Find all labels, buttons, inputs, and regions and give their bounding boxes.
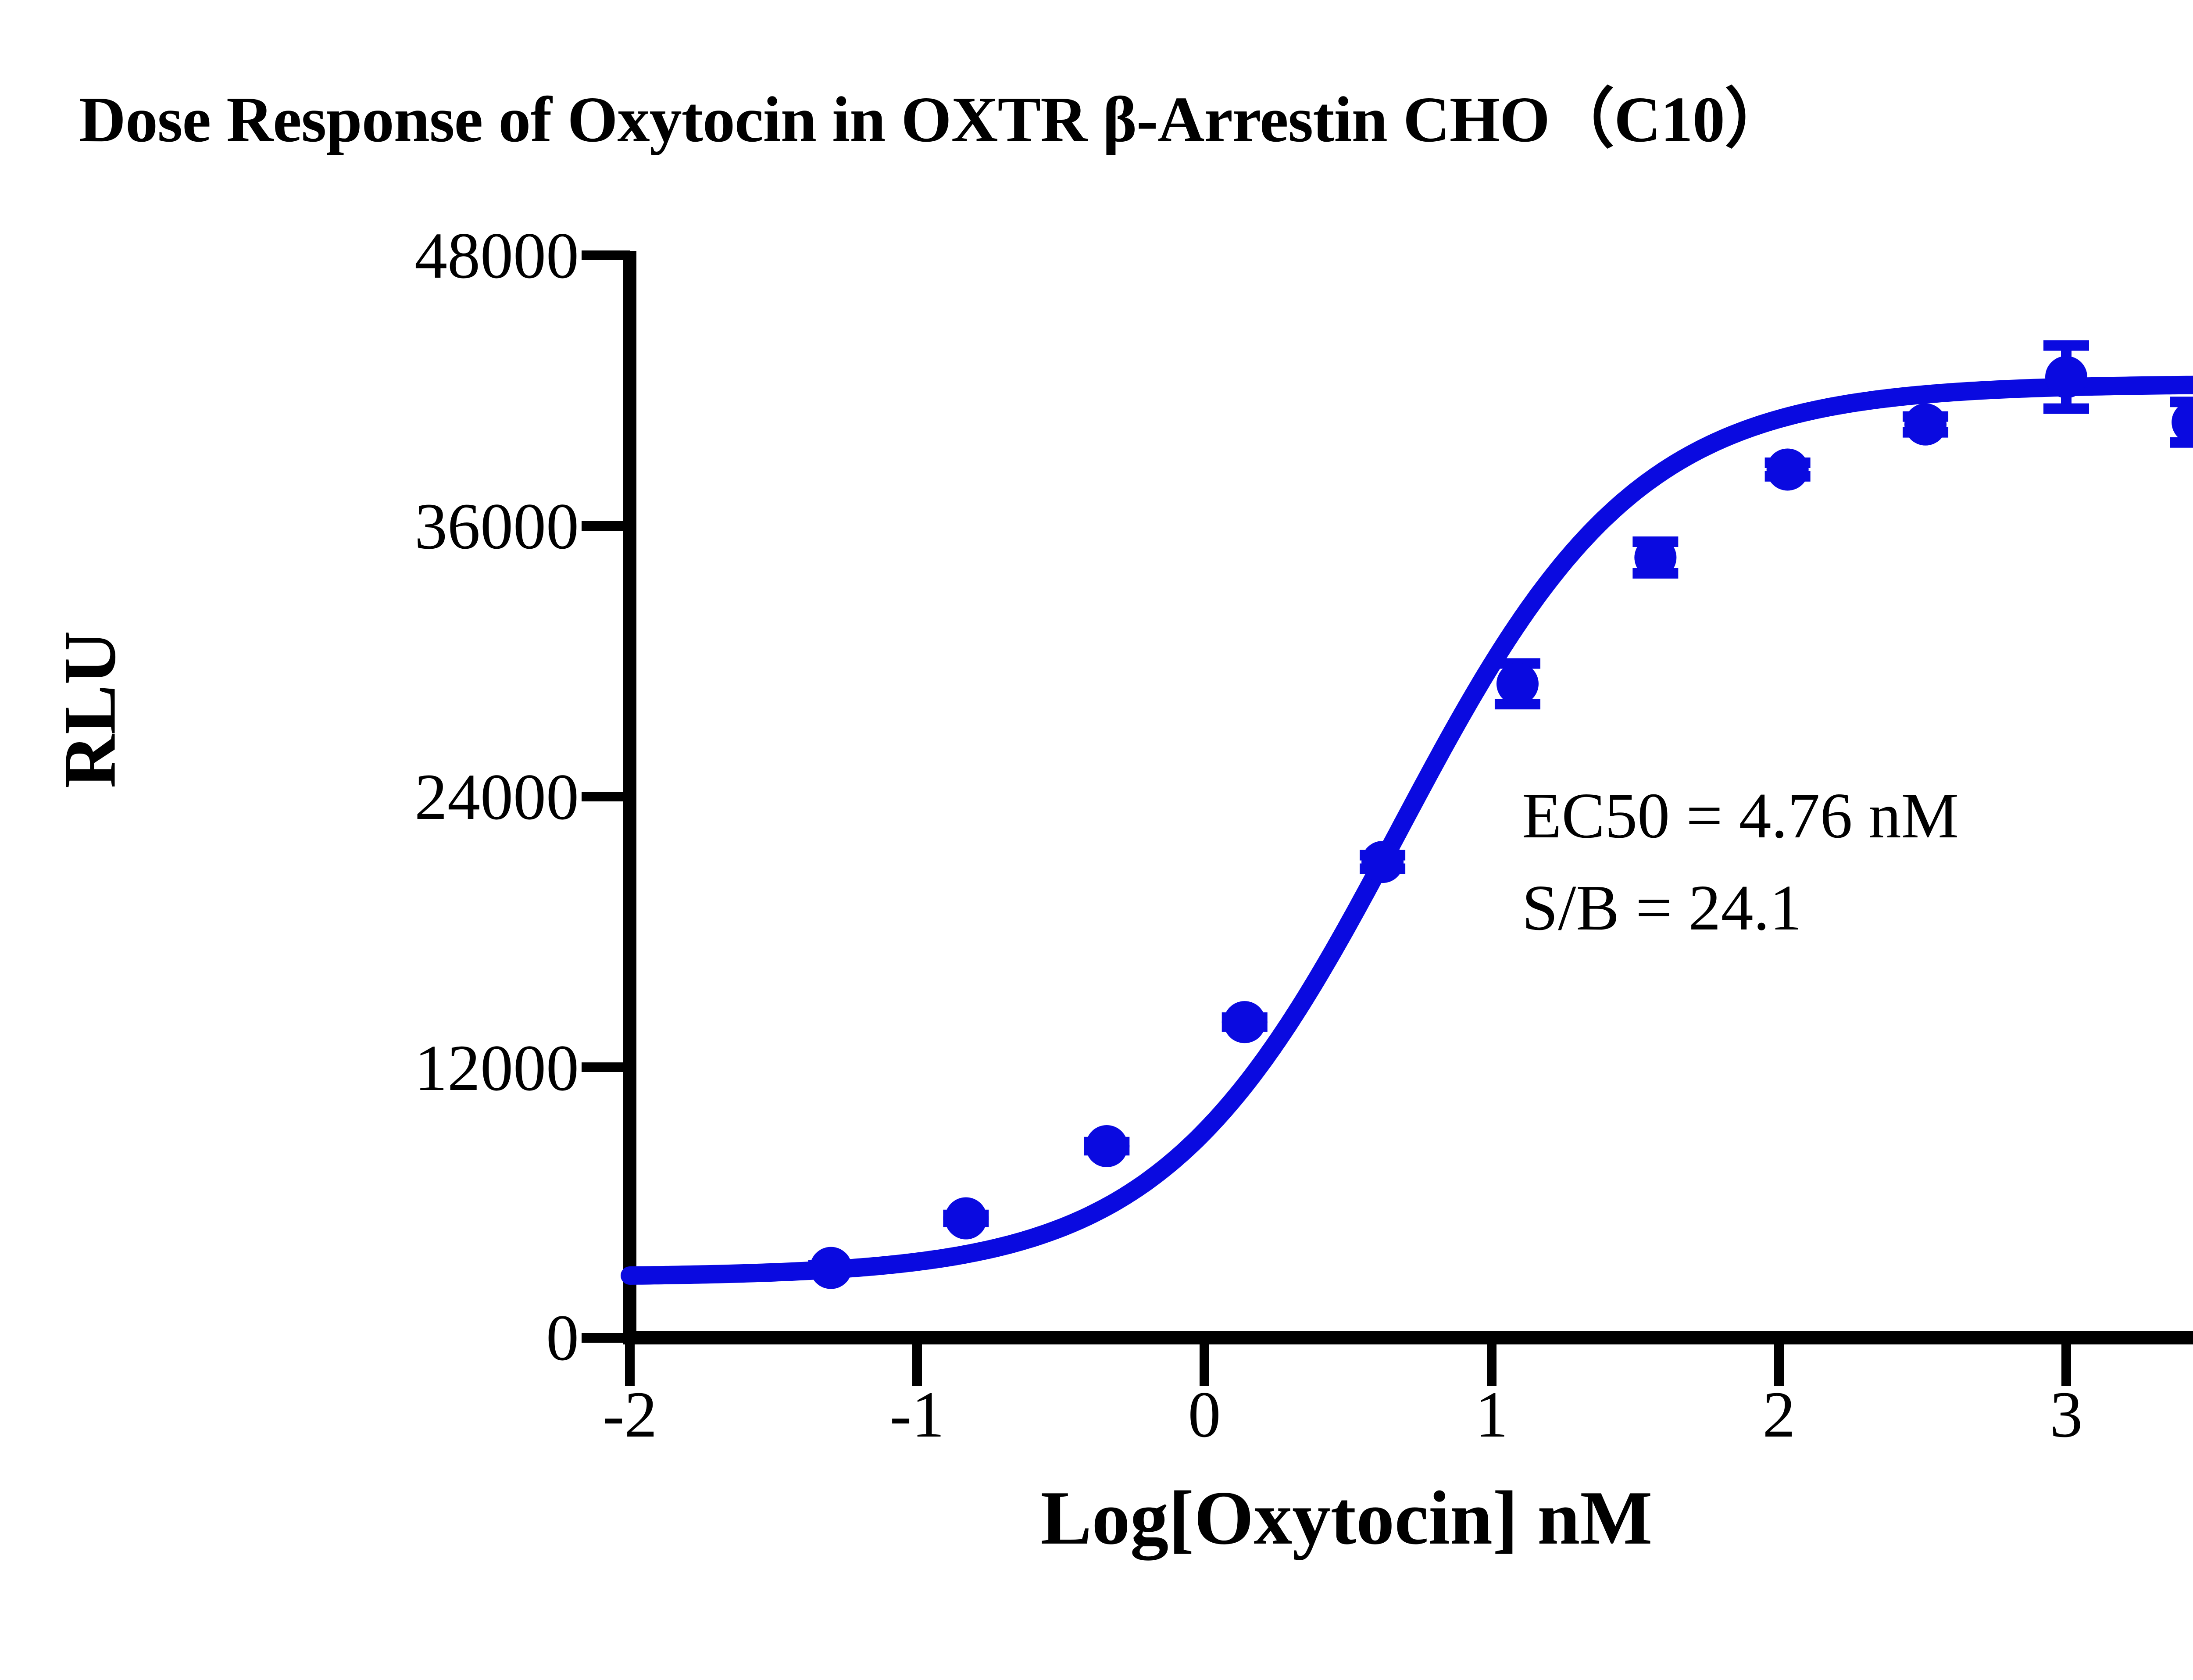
y-tick-label-0: 0	[272, 1305, 579, 1371]
data-point	[1361, 841, 1404, 883]
data-point	[810, 1247, 852, 1289]
x-tick-label-1: 1	[1404, 1382, 1579, 1448]
data-point	[1634, 536, 1676, 579]
x-tick-label--1: -1	[829, 1382, 1005, 1448]
sb-annotation: S/B = 24.1	[1522, 862, 1959, 954]
x-axis-title: Log[Oxytocin] nM	[623, 1474, 2070, 1562]
data-point	[1904, 404, 1947, 446]
data-point	[1497, 663, 1539, 705]
y-tick-label-12000: 12000	[272, 1035, 579, 1101]
data-point	[2172, 401, 2193, 443]
data-point	[945, 1197, 987, 1239]
data-points-group	[810, 356, 2193, 1289]
data-point	[2045, 356, 2087, 398]
chart-root: Dose Response of Oxytocin in OXTR β-Arre…	[0, 0, 2193, 1680]
y-tick-label-48000: 48000	[272, 223, 579, 289]
x-tick-label-0: 0	[1117, 1382, 1292, 1448]
x-tick-label-3: 3	[1979, 1382, 2154, 1448]
y-tick-label-24000: 24000	[272, 764, 579, 830]
x-tick-label-2: 2	[1691, 1382, 1867, 1448]
error-bars-group	[808, 346, 2193, 1271]
data-point	[1767, 448, 1809, 490]
data-point	[1224, 1001, 1266, 1043]
data-point	[1086, 1125, 1128, 1167]
ec50-annotation: EC50 = 4.76 nM	[1522, 770, 1959, 862]
x-tick-label--2: -2	[542, 1382, 718, 1448]
y-axis-title: RLU	[47, 578, 133, 841]
fit-annotation: EC50 = 4.76 nM S/B = 24.1	[1522, 770, 1959, 954]
y-tick-label-36000: 36000	[272, 493, 579, 559]
